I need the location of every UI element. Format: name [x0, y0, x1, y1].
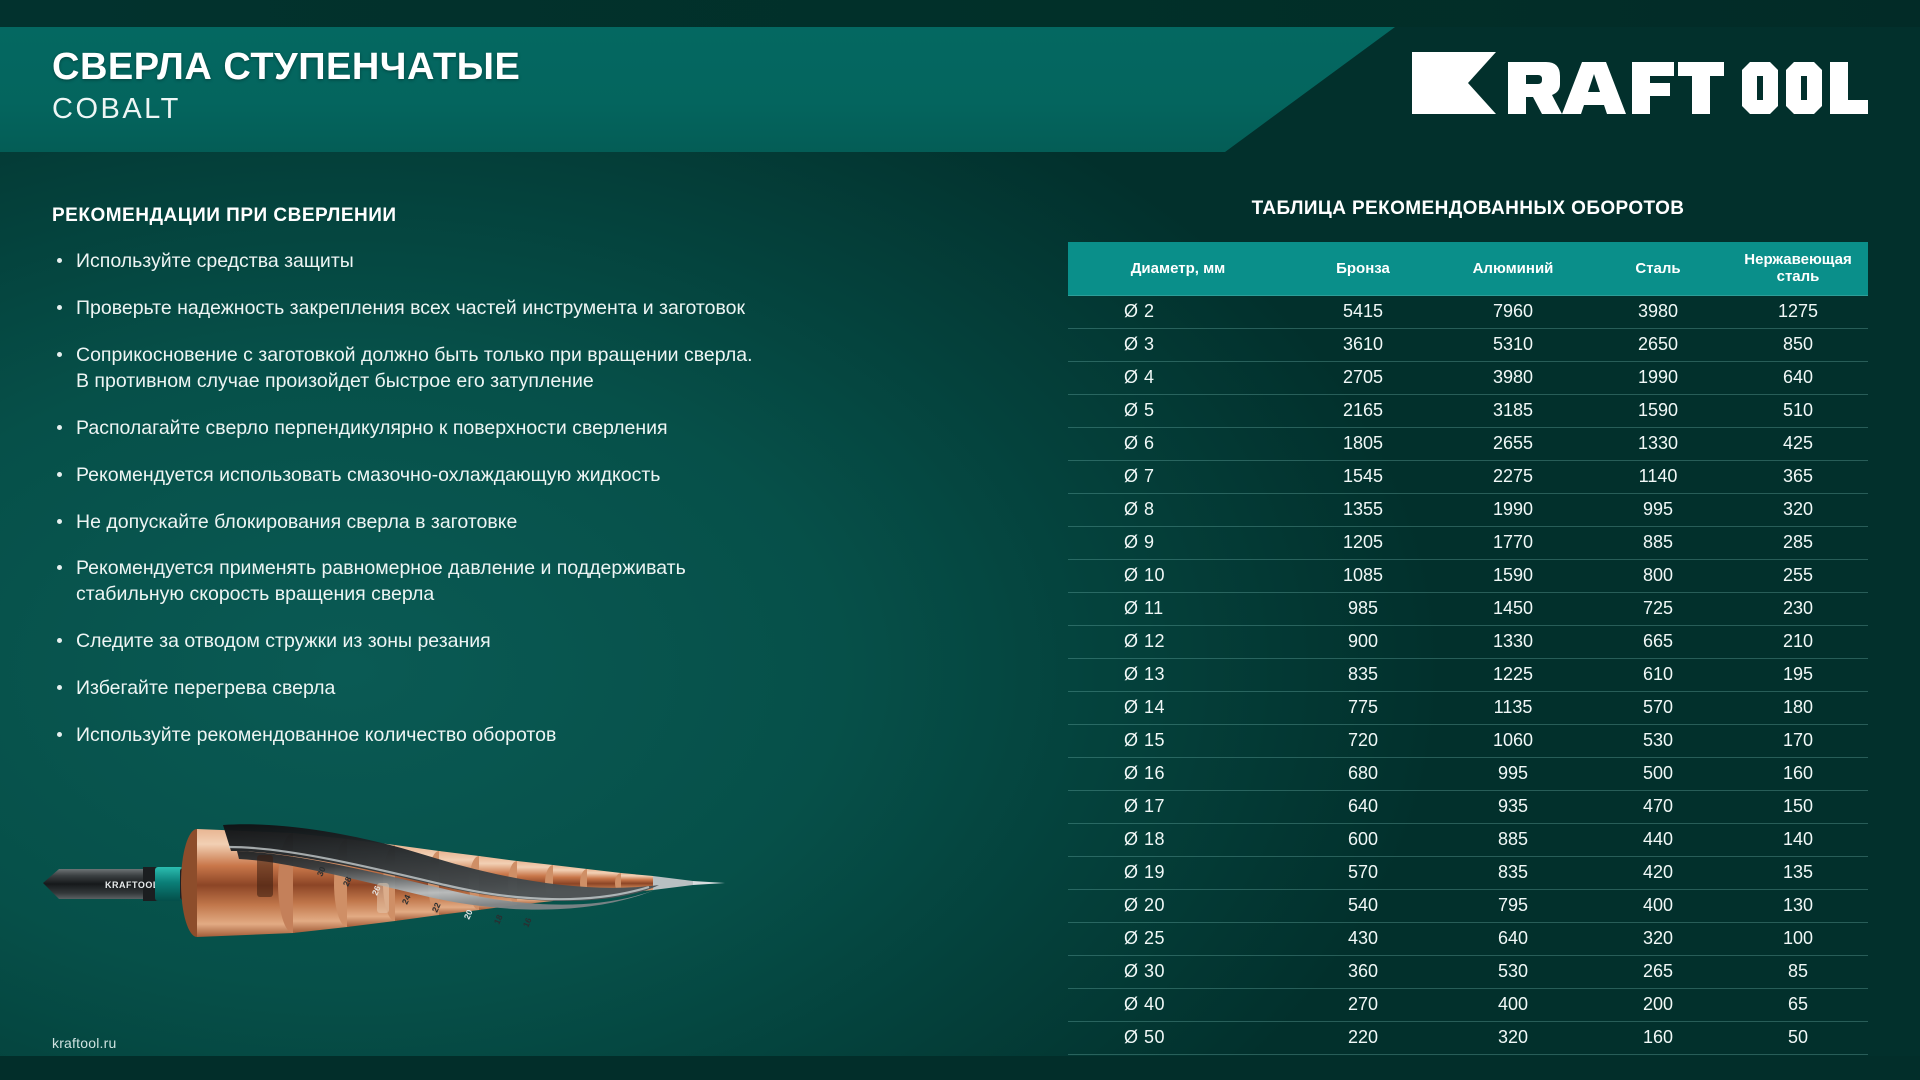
list-item: Используйте средства защиты [52, 249, 872, 275]
cell-rpm: 360 [1288, 956, 1438, 989]
table-row: Ø 129001330665210 [1068, 626, 1868, 659]
cell-rpm: 3610 [1288, 329, 1438, 362]
cell-rpm: 160 [1588, 1022, 1728, 1055]
list-item: Следите за отводом стружки из зоны резан… [52, 629, 872, 655]
list-item: Не допускайте блокирования сверла в заго… [52, 510, 872, 536]
cell-rpm: 725 [1588, 593, 1728, 626]
table-row: Ø 813551990995320 [1068, 494, 1868, 527]
cell-rpm: 320 [1438, 1022, 1588, 1055]
cell-diameter: Ø 9 [1068, 527, 1288, 560]
cell-rpm: 270 [1288, 989, 1438, 1022]
tip-line-1: Не допускайте блокирования сверла в заго… [76, 511, 517, 533]
table-row: Ø 157201060530170 [1068, 725, 1868, 758]
cell-rpm: 900 [1288, 626, 1438, 659]
bottom-accent-strip [0, 1056, 1920, 1080]
cell-rpm: 5310 [1438, 329, 1588, 362]
cell-rpm: 570 [1288, 857, 1438, 890]
cell-rpm: 130 [1728, 890, 1868, 923]
bullet-icon [57, 472, 62, 477]
table-row: Ø 7154522751140365 [1068, 461, 1868, 494]
cell-rpm: 160 [1728, 758, 1868, 791]
cell-diameter: Ø 12 [1068, 626, 1288, 659]
cell-rpm: 65 [1728, 989, 1868, 1022]
tip-line-1: Следите за отводом стружки из зоны резан… [76, 630, 491, 652]
table-row: Ø 5022032016050 [1068, 1022, 1868, 1055]
cell-diameter: Ø 25 [1068, 923, 1288, 956]
cell-diameter: Ø 18 [1068, 824, 1288, 857]
tip-line-1: Соприкосновение с заготовкой должно быть… [76, 344, 753, 366]
cell-rpm: 320 [1728, 494, 1868, 527]
tip-line-1: Располагайте сверло перпендикулярно к по… [76, 417, 668, 439]
list-item: Используйте рекомендованное количество о… [52, 723, 872, 749]
kraftool-logo-icon [1412, 52, 1868, 114]
rpm-table-panel: ТАБЛИЦА РЕКОМЕНДОВАННЫХ ОБОРОТОВ Диаметр… [1068, 198, 1868, 1055]
rpm-table: Диаметр, мм Бронза Алюминий Сталь Нержав… [1068, 242, 1868, 1055]
cell-rpm: 3185 [1438, 395, 1588, 428]
cell-diameter: Ø 20 [1068, 890, 1288, 923]
column-header-aluminium: Алюминий [1438, 242, 1588, 296]
cell-rpm: 2655 [1438, 428, 1588, 461]
table-row: Ø 16680995500160 [1068, 758, 1868, 791]
cell-rpm: 255 [1728, 560, 1868, 593]
table-row: Ø 3036053026585 [1068, 956, 1868, 989]
tip-line-2: В противном случае произойдет быстрое ег… [76, 369, 872, 395]
table-row: Ø 1010851590800255 [1068, 560, 1868, 593]
cell-rpm: 200 [1588, 989, 1728, 1022]
list-item: Соприкосновение с заготовкой должно быть… [52, 343, 872, 395]
svg-text:18: 18 [492, 913, 505, 926]
cell-rpm: 885 [1438, 824, 1588, 857]
cell-rpm: 1225 [1438, 659, 1588, 692]
cell-rpm: 835 [1438, 857, 1588, 890]
cell-diameter: Ø 5 [1068, 395, 1288, 428]
cell-rpm: 600 [1288, 824, 1438, 857]
cell-rpm: 1330 [1438, 626, 1588, 659]
cell-rpm: 1990 [1588, 362, 1728, 395]
cell-rpm: 50 [1728, 1022, 1868, 1055]
cell-rpm: 835 [1288, 659, 1438, 692]
cell-diameter: Ø 17 [1068, 791, 1288, 824]
cell-rpm: 795 [1438, 890, 1588, 923]
footer-website-url[interactable]: kraftool.ru [52, 1035, 116, 1051]
tip-line-1: Рекомендуется применять равномерное давл… [76, 557, 686, 579]
bullet-icon [57, 258, 62, 263]
cell-rpm: 2650 [1588, 329, 1728, 362]
bullet-icon [57, 425, 62, 430]
cell-rpm: 665 [1588, 626, 1728, 659]
cell-rpm: 400 [1588, 890, 1728, 923]
table-row: Ø 20540795400130 [1068, 890, 1868, 923]
table-row: Ø 17640935470150 [1068, 791, 1868, 824]
table-row: Ø 25415796039801275 [1068, 296, 1868, 329]
cell-diameter: Ø 14 [1068, 692, 1288, 725]
cell-rpm: 1805 [1288, 428, 1438, 461]
cell-diameter: Ø 10 [1068, 560, 1288, 593]
bullet-icon [57, 638, 62, 643]
cell-diameter: Ø 30 [1068, 956, 1288, 989]
cell-rpm: 1205 [1288, 527, 1438, 560]
cell-rpm: 2165 [1288, 395, 1438, 428]
cell-diameter: Ø 2 [1068, 296, 1288, 329]
cell-rpm: 850 [1728, 329, 1868, 362]
cell-rpm: 230 [1728, 593, 1868, 626]
table-row: Ø 18600885440140 [1068, 824, 1868, 857]
product-infographic-page: СВЕРЛА СТУПЕНЧАТЫЕ COBALT [0, 0, 1920, 1080]
cell-rpm: 935 [1438, 791, 1588, 824]
cell-rpm: 1330 [1588, 428, 1728, 461]
cell-rpm: 570 [1588, 692, 1728, 725]
recommendations-title: РЕКОМЕНДАЦИИ ПРИ СВЕРЛЕНИИ [52, 205, 872, 227]
list-item: Рекомендуется применять равномерное давл… [52, 556, 872, 608]
cell-diameter: Ø 3 [1068, 329, 1288, 362]
svg-text:KRAFTOOL: KRAFTOOL [105, 880, 159, 890]
cell-rpm: 3980 [1588, 296, 1728, 329]
cell-rpm: 2705 [1288, 362, 1438, 395]
table-row: Ø 119851450725230 [1068, 593, 1868, 626]
cell-rpm: 420 [1588, 857, 1728, 890]
cell-rpm: 800 [1588, 560, 1728, 593]
cell-rpm: 640 [1438, 923, 1588, 956]
cell-rpm: 775 [1288, 692, 1438, 725]
list-item: Проверьте надежность закрепления всех ча… [52, 296, 872, 322]
bullet-icon [57, 565, 62, 570]
cell-rpm: 425 [1728, 428, 1868, 461]
table-row: Ø 138351225610195 [1068, 659, 1868, 692]
cell-rpm: 1135 [1438, 692, 1588, 725]
cell-rpm: 150 [1728, 791, 1868, 824]
bullet-icon [57, 352, 62, 357]
cell-rpm: 100 [1728, 923, 1868, 956]
column-header-steel: Сталь [1588, 242, 1728, 296]
cell-rpm: 1275 [1728, 296, 1868, 329]
cell-rpm: 995 [1438, 758, 1588, 791]
cell-rpm: 265 [1588, 956, 1728, 989]
cell-rpm: 5415 [1288, 296, 1438, 329]
rpm-table-title: ТАБЛИЦА РЕКОМЕНДОВАННЫХ ОБОРОТОВ [1068, 198, 1868, 220]
cell-diameter: Ø 13 [1068, 659, 1288, 692]
page-subtitle: COBALT [52, 93, 181, 126]
cell-rpm: 400 [1438, 989, 1588, 1022]
table-row: Ø 912051770885285 [1068, 527, 1868, 560]
cell-rpm: 430 [1288, 923, 1438, 956]
table-row: Ø 4027040020065 [1068, 989, 1868, 1022]
table-row: Ø 3361053102650850 [1068, 329, 1868, 362]
cell-rpm: 640 [1288, 791, 1438, 824]
tip-line-1: Используйте средства защиты [76, 250, 354, 272]
cell-rpm: 210 [1728, 626, 1868, 659]
cell-rpm: 220 [1288, 1022, 1438, 1055]
table-row: Ø 25430640320100 [1068, 923, 1868, 956]
cell-rpm: 610 [1588, 659, 1728, 692]
cell-rpm: 1060 [1438, 725, 1588, 758]
cell-rpm: 995 [1588, 494, 1728, 527]
list-item: Располагайте сверло перпендикулярно к по… [52, 416, 872, 442]
cell-diameter: Ø 16 [1068, 758, 1288, 791]
cell-diameter: Ø 6 [1068, 428, 1288, 461]
cell-diameter: Ø 50 [1068, 1022, 1288, 1055]
cell-diameter: Ø 4 [1068, 362, 1288, 395]
cell-rpm: 500 [1588, 758, 1728, 791]
table-header-row: Диаметр, мм Бронза Алюминий Сталь Нержав… [1068, 242, 1868, 296]
tip-line-1: Избегайте перегрева сверла [76, 677, 335, 699]
recommendations-list: Используйте средства защиты Проверьте на… [52, 249, 872, 749]
cell-rpm: 365 [1728, 461, 1868, 494]
bullet-icon [57, 732, 62, 737]
cell-rpm: 885 [1588, 527, 1728, 560]
cell-rpm: 285 [1728, 527, 1868, 560]
cell-rpm: 85 [1728, 956, 1868, 989]
step-drill-bit-image: KRAFTOOL [25, 755, 745, 990]
table-row: Ø 6180526551330425 [1068, 428, 1868, 461]
list-item: Избегайте перегрева сверла [52, 676, 872, 702]
cell-rpm: 1085 [1288, 560, 1438, 593]
hex-shank: KRAFTOOL [43, 867, 165, 901]
cell-rpm: 320 [1588, 923, 1728, 956]
cell-rpm: 470 [1588, 791, 1728, 824]
column-header-stainless-steel: Нержавеющая сталь [1728, 242, 1868, 296]
cell-rpm: 2275 [1438, 461, 1588, 494]
cell-rpm: 195 [1728, 659, 1868, 692]
cell-diameter: Ø 15 [1068, 725, 1288, 758]
cell-rpm: 510 [1728, 395, 1868, 428]
tip-line-1: Проверьте надежность закрепления всех ча… [76, 297, 745, 319]
tip-line-1: Рекомендуется использовать смазочно-охла… [76, 464, 660, 486]
tip-line-1: Используйте рекомендованное количество о… [76, 724, 556, 746]
table-row: Ø 147751135570180 [1068, 692, 1868, 725]
cell-rpm: 530 [1588, 725, 1728, 758]
page-title: СВЕРЛА СТУПЕНЧАТЫЕ [52, 46, 520, 89]
cell-diameter: Ø 19 [1068, 857, 1288, 890]
cell-rpm: 1140 [1588, 461, 1728, 494]
cell-rpm: 180 [1728, 692, 1868, 725]
cell-rpm: 1590 [1588, 395, 1728, 428]
cell-rpm: 985 [1288, 593, 1438, 626]
cell-rpm: 3980 [1438, 362, 1588, 395]
rpm-table-body: Ø 25415796039801275Ø 3361053102650850Ø 4… [1068, 296, 1868, 1055]
cell-rpm: 720 [1288, 725, 1438, 758]
cell-rpm: 1450 [1438, 593, 1588, 626]
cell-rpm: 680 [1288, 758, 1438, 791]
table-row: Ø 4270539801990640 [1068, 362, 1868, 395]
column-header-bronze: Бронза [1288, 242, 1438, 296]
table-row: Ø 5216531851590510 [1068, 395, 1868, 428]
cell-diameter: Ø 7 [1068, 461, 1288, 494]
bullet-icon [57, 305, 62, 310]
cell-rpm: 135 [1728, 857, 1868, 890]
cell-rpm: 1990 [1438, 494, 1588, 527]
cell-diameter: Ø 11 [1068, 593, 1288, 626]
cell-rpm: 170 [1728, 725, 1868, 758]
cell-diameter: Ø 8 [1068, 494, 1288, 527]
cell-rpm: 440 [1588, 824, 1728, 857]
top-accent-strip [0, 0, 1920, 27]
cell-rpm: 1770 [1438, 527, 1588, 560]
cell-rpm: 7960 [1438, 296, 1588, 329]
cell-rpm: 1355 [1288, 494, 1438, 527]
column-header-diameter: Диаметр, мм [1068, 242, 1288, 296]
cell-rpm: 530 [1438, 956, 1588, 989]
list-item: Рекомендуется использовать смазочно-охла… [52, 463, 872, 489]
svg-text:16: 16 [521, 916, 534, 929]
cell-diameter: Ø 40 [1068, 989, 1288, 1022]
cell-rpm: 640 [1728, 362, 1868, 395]
bullet-icon [57, 685, 62, 690]
bullet-icon [57, 519, 62, 524]
cell-rpm: 140 [1728, 824, 1868, 857]
cell-rpm: 1545 [1288, 461, 1438, 494]
cell-rpm: 1590 [1438, 560, 1588, 593]
tip-line-2: стабильную скорость вращения сверла [76, 582, 872, 608]
cell-rpm: 540 [1288, 890, 1438, 923]
table-row: Ø 19570835420135 [1068, 857, 1868, 890]
collar-ring [155, 867, 183, 901]
recommendations-panel: РЕКОМЕНДАЦИИ ПРИ СВЕРЛЕНИИ Используйте с… [52, 205, 872, 770]
